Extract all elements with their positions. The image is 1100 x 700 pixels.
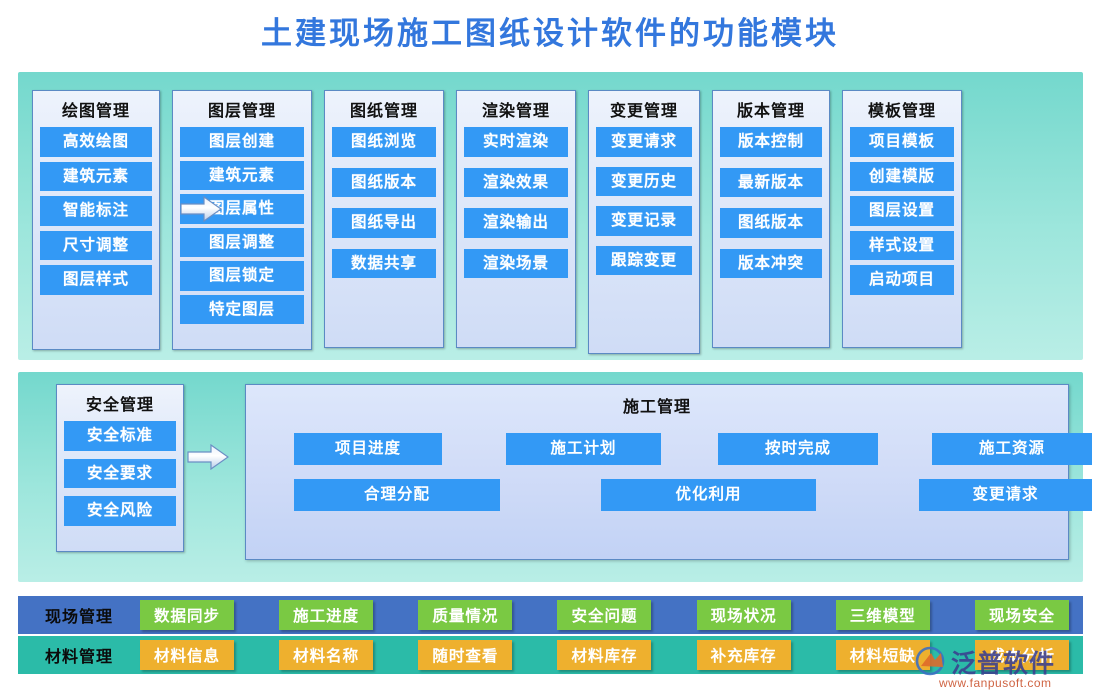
- module-card-render[interactable]: 渲染管理 实时渲染 渲染效果 渲染输出 渲染场景: [456, 90, 576, 348]
- site-chip[interactable]: 三维模型: [836, 600, 930, 630]
- module-item[interactable]: 渲染输出: [464, 208, 568, 238]
- bar-label-site: 现场管理: [18, 603, 140, 627]
- material-management-bar: 材料管理 材料信息 材料名称 随时查看 材料库存 补充库存 材料短缺 成本分析: [18, 636, 1083, 674]
- site-chip[interactable]: 数据同步: [140, 600, 234, 630]
- bar-label-material: 材料管理: [18, 643, 140, 667]
- card-title: 图纸管理: [350, 97, 418, 121]
- construction-management-panel: 施工管理 项目进度 施工计划 按时完成 施工资源 合理分配 优化利用 变更请求: [245, 384, 1069, 560]
- module-item[interactable]: 渲染效果: [464, 168, 568, 198]
- construction-row-2: 合理分配 优化利用 变更请求: [256, 479, 1058, 511]
- module-card-safety[interactable]: 安全管理 安全标准 安全要求 安全风险: [56, 384, 184, 552]
- module-item[interactable]: 变更历史: [596, 167, 692, 197]
- module-item[interactable]: 图纸版本: [332, 168, 436, 198]
- construction-panel-row2: 安全管理 安全标准 安全要求 安全风险 施工管理 项目进度 施工计划 按时完成 …: [18, 372, 1083, 582]
- card-title: 安全管理: [86, 391, 154, 415]
- site-management-bar: 现场管理 数据同步 施工进度 质量情况 安全问题 现场状况 三维模型 现场安全: [18, 596, 1083, 634]
- module-card-drawing[interactable]: 绘图管理 高效绘图 建筑元素 智能标注 尺寸调整 图层样式: [32, 90, 160, 350]
- construction-item[interactable]: 项目进度: [294, 433, 442, 465]
- module-item[interactable]: 特定图层: [180, 295, 304, 325]
- site-chip[interactable]: 现场安全: [975, 600, 1069, 630]
- module-item[interactable]: 安全要求: [64, 459, 176, 489]
- module-item[interactable]: 图层锁定: [180, 261, 304, 291]
- card-title: 渲染管理: [482, 97, 550, 121]
- construction-item[interactable]: 优化利用: [601, 479, 816, 511]
- module-item[interactable]: 跟踪变更: [596, 246, 692, 276]
- card-title: 绘图管理: [62, 97, 130, 121]
- module-item[interactable]: 渲染场景: [464, 249, 568, 279]
- card-title: 版本管理: [737, 97, 805, 121]
- module-item[interactable]: 启动项目: [850, 265, 954, 295]
- module-item[interactable]: 数据共享: [332, 249, 436, 279]
- construction-item[interactable]: 施工计划: [506, 433, 661, 465]
- card-title: 变更管理: [610, 97, 678, 121]
- page-title: 土建现场施工图纸设计软件的功能模块: [0, 0, 1100, 68]
- module-item[interactable]: 变更记录: [596, 206, 692, 236]
- module-item[interactable]: 尺寸调整: [40, 231, 152, 261]
- material-chip[interactable]: 成本分析: [975, 640, 1069, 670]
- module-item[interactable]: 最新版本: [720, 168, 822, 198]
- material-chip[interactable]: 材料短缺: [836, 640, 930, 670]
- construction-item[interactable]: 变更请求: [919, 479, 1092, 511]
- right-arrow-icon: [180, 196, 222, 222]
- modules-panel-row1: 绘图管理 高效绘图 建筑元素 智能标注 尺寸调整 图层样式 图层管理 图层创建 …: [18, 72, 1083, 360]
- site-chip-list: 数据同步 施工进度 质量情况 安全问题 现场状况 三维模型 现场安全: [140, 600, 1083, 630]
- material-chip[interactable]: 补充库存: [697, 640, 791, 670]
- module-item[interactable]: 版本冲突: [720, 249, 822, 279]
- right-arrow-icon: [187, 444, 229, 470]
- material-chip[interactable]: 材料库存: [557, 640, 651, 670]
- construction-item[interactable]: 合理分配: [294, 479, 500, 511]
- card-title: 图层管理: [208, 97, 276, 121]
- module-item[interactable]: 安全标准: [64, 421, 176, 451]
- module-item[interactable]: 图层设置: [850, 196, 954, 226]
- module-item[interactable]: 变更请求: [596, 127, 692, 157]
- panel-title: 施工管理: [256, 393, 1058, 417]
- module-card-blueprint[interactable]: 图纸管理 图纸浏览 图纸版本 图纸导出 数据共享: [324, 90, 444, 348]
- module-item[interactable]: 项目模板: [850, 127, 954, 157]
- module-item[interactable]: 智能标注: [40, 196, 152, 226]
- material-chip[interactable]: 随时查看: [418, 640, 512, 670]
- site-chip[interactable]: 安全问题: [557, 600, 651, 630]
- module-item[interactable]: 高效绘图: [40, 127, 152, 157]
- material-chip-list: 材料信息 材料名称 随时查看 材料库存 补充库存 材料短缺 成本分析: [140, 640, 1083, 670]
- construction-item[interactable]: 施工资源: [932, 433, 1092, 465]
- material-chip[interactable]: 材料名称: [279, 640, 373, 670]
- site-chip[interactable]: 现场状况: [697, 600, 791, 630]
- module-item[interactable]: 图层创建: [180, 127, 304, 157]
- module-card-change[interactable]: 变更管理 变更请求 变更历史 变更记录 跟踪变更: [588, 90, 700, 354]
- module-item[interactable]: 图纸导出: [332, 208, 436, 238]
- site-chip[interactable]: 质量情况: [418, 600, 512, 630]
- watermark-url: www.fanpusoft.com: [939, 676, 1052, 690]
- module-item[interactable]: 样式设置: [850, 231, 954, 261]
- construction-row-1: 项目进度 施工计划 按时完成 施工资源: [256, 433, 1058, 465]
- card-title: 模板管理: [868, 97, 936, 121]
- module-item[interactable]: 图层样式: [40, 265, 152, 295]
- module-item[interactable]: 建筑元素: [40, 162, 152, 192]
- construction-item[interactable]: 按时完成: [718, 433, 878, 465]
- module-item[interactable]: 安全风险: [64, 496, 176, 526]
- module-card-version[interactable]: 版本管理 版本控制 最新版本 图纸版本 版本冲突: [712, 90, 830, 348]
- module-item[interactable]: 实时渲染: [464, 127, 568, 157]
- module-item[interactable]: 图层调整: [180, 228, 304, 258]
- material-chip[interactable]: 材料信息: [140, 640, 234, 670]
- module-item[interactable]: 建筑元素: [180, 161, 304, 191]
- module-item[interactable]: 图纸版本: [720, 208, 822, 238]
- module-item[interactable]: 创建模版: [850, 162, 954, 192]
- site-chip[interactable]: 施工进度: [279, 600, 373, 630]
- module-item[interactable]: 版本控制: [720, 127, 822, 157]
- module-item[interactable]: 图纸浏览: [332, 127, 436, 157]
- module-card-template[interactable]: 模板管理 项目模板 创建模版 图层设置 样式设置 启动项目: [842, 90, 962, 348]
